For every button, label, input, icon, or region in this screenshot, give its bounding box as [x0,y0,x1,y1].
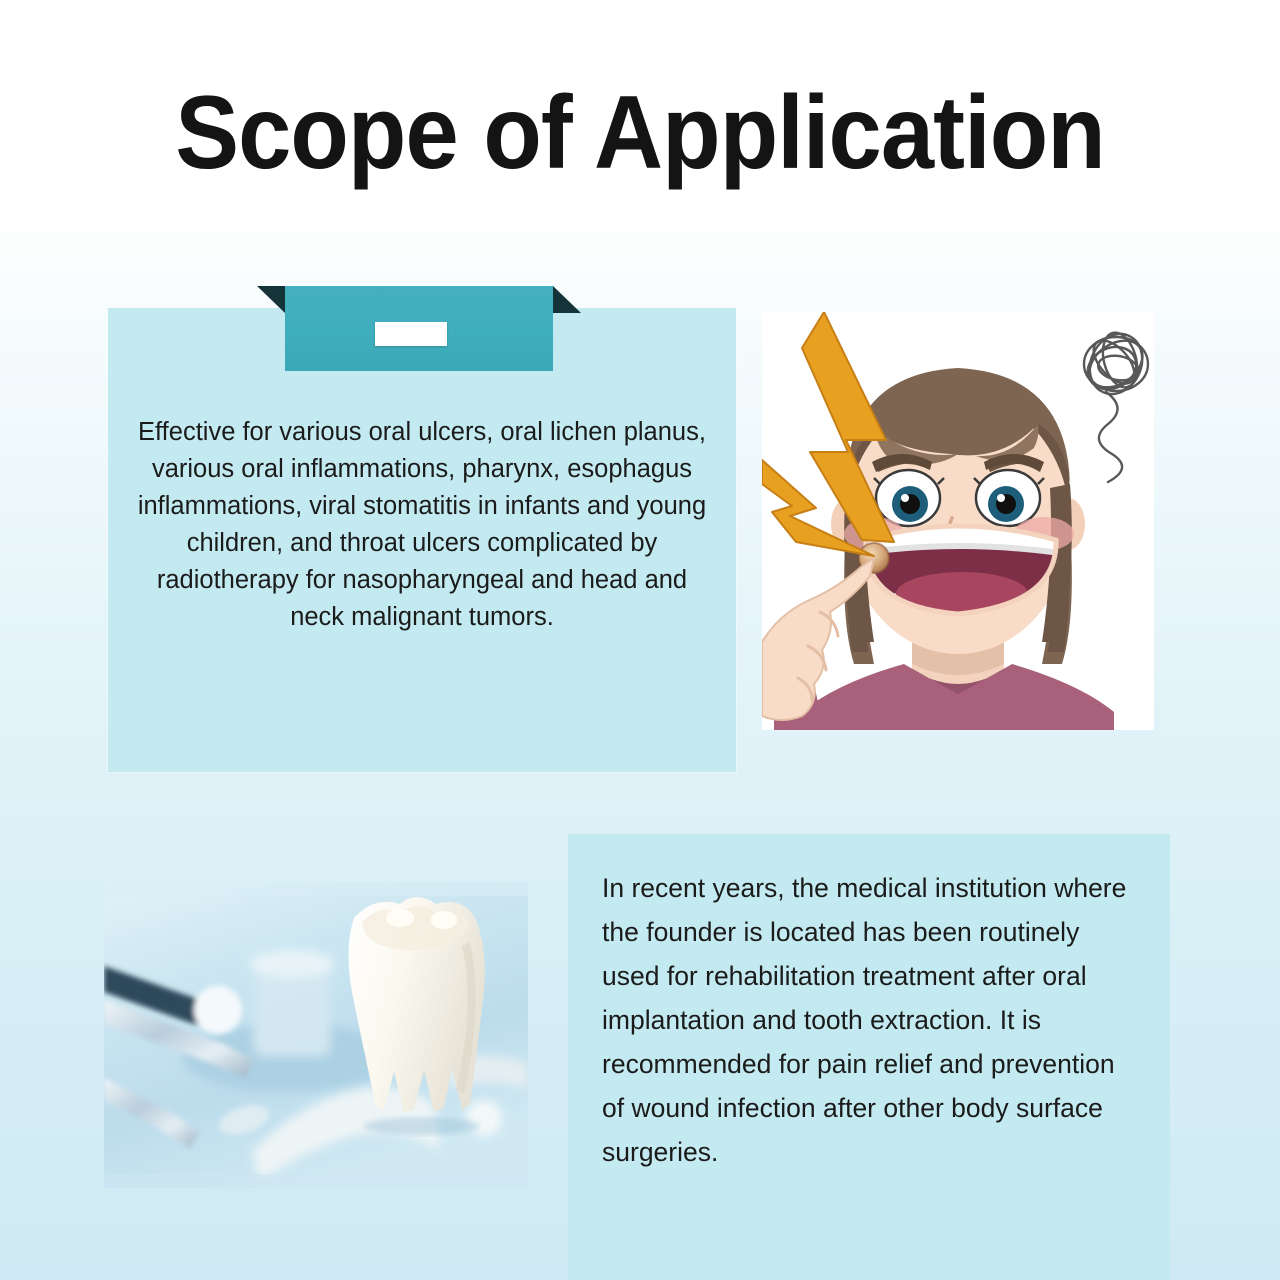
card-one-body-text: Effective for various oral ulcers, oral … [132,414,712,636]
girl-with-oral-ulcer-illustration [762,312,1154,730]
ribbon-fold-left-icon [257,286,285,313]
card-scope-description: Effective for various oral ulcers, oral … [108,308,736,772]
poster-canvas: Scope of Application Effective for vario… [0,0,1280,1280]
card-two-body-text: In recent years, the medical institution… [602,866,1142,1174]
dental-tools-and-tooth-photo [104,882,528,1188]
ribbon-label-plate [375,322,447,346]
card-recent-use-description: In recent years, the medical institution… [568,834,1170,1280]
page-title: Scope of Application [51,78,1229,188]
ribbon-banner [285,286,553,371]
ribbon-fold-right-icon [553,286,581,313]
